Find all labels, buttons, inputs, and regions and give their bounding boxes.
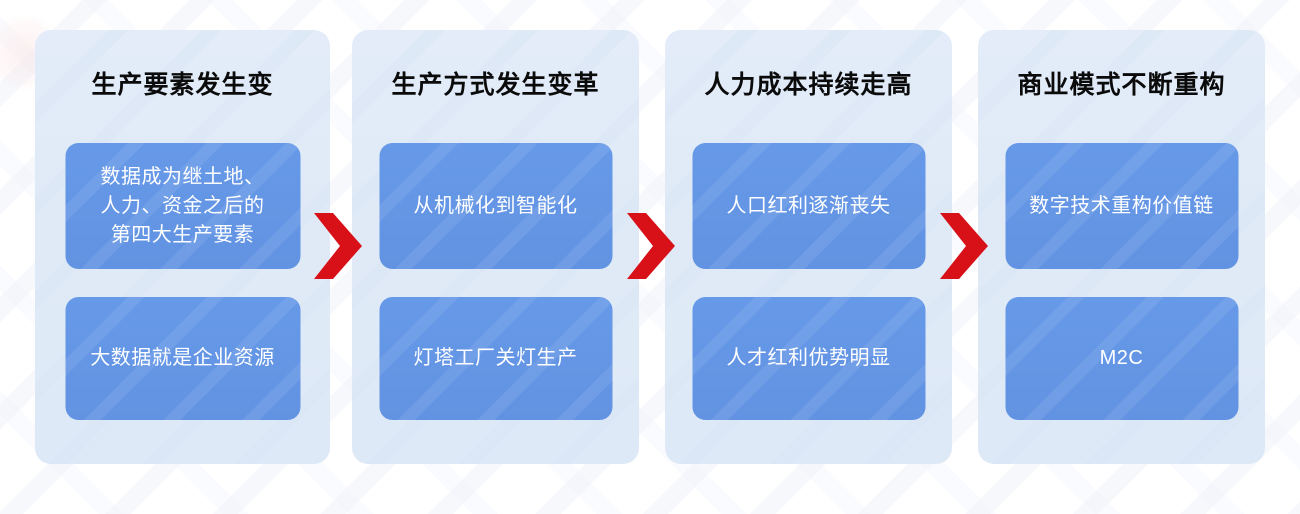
stage-1-item-label-1: 数据成为继土地、 人力、资金之后的 第四大生产要素 (91, 163, 275, 250)
chevron-right-icon-2 (627, 213, 675, 279)
stage-3-item-label-1: 人口红利逐渐丧失 (717, 192, 901, 221)
stage-title-2: 生产方式发生变革 (352, 70, 639, 100)
stage-panel-4[interactable]: 商业模式不断重构 数字技术重构价值链 M2C (978, 30, 1265, 464)
stage-3-item-label-2: 人才红利优势明显 (717, 344, 901, 373)
stage-panel-3[interactable]: 人力成本持续走高 人口红利逐渐丧失 人才红利优势明显 (665, 30, 952, 464)
stage-title-1: 生产要素发生变 (35, 70, 330, 100)
stage-title-3: 人力成本持续走高 (665, 70, 952, 100)
stage-panel-1[interactable]: 生产要素发生变 数据成为继土地、 人力、资金之后的 第四大生产要素 大数据就是企… (35, 30, 330, 464)
chevron-right-icon-1 (314, 213, 362, 279)
stage-4-item-label-2: M2C (1090, 344, 1154, 373)
stage-4-item-card-1[interactable]: 数字技术重构价值链 (1005, 143, 1238, 269)
stage-4-item-label-1: 数字技术重构价值链 (1019, 192, 1224, 221)
stage-2-item-card-2[interactable]: 灯塔工厂关灯生产 (379, 297, 612, 420)
stage-4-item-card-2[interactable]: M2C (1005, 297, 1238, 420)
stage-3-item-card-1[interactable]: 人口红利逐渐丧失 (692, 143, 925, 269)
stage-2-item-label-1: 从机械化到智能化 (404, 192, 588, 221)
flow-row: 生产要素发生变 数据成为继土地、 人力、资金之后的 第四大生产要素 大数据就是企… (0, 0, 1300, 514)
stage-title-4: 商业模式不断重构 (978, 70, 1265, 100)
diagram-canvas: 生产要素发生变 数据成为继土地、 人力、资金之后的 第四大生产要素 大数据就是企… (0, 0, 1300, 514)
stage-3-item-card-2[interactable]: 人才红利优势明显 (692, 297, 925, 420)
stage-2-item-label-2: 灯塔工厂关灯生产 (404, 344, 588, 373)
stage-1-item-card-2[interactable]: 大数据就是企业资源 (65, 297, 300, 420)
stage-1-item-label-2: 大数据就是企业资源 (80, 344, 285, 373)
chevron-right-icon-3 (940, 213, 988, 279)
stage-panel-2[interactable]: 生产方式发生变革 从机械化到智能化 灯塔工厂关灯生产 (352, 30, 639, 464)
stage-1-item-card-1[interactable]: 数据成为继土地、 人力、资金之后的 第四大生产要素 (65, 143, 300, 269)
stage-2-item-card-1[interactable]: 从机械化到智能化 (379, 143, 612, 269)
